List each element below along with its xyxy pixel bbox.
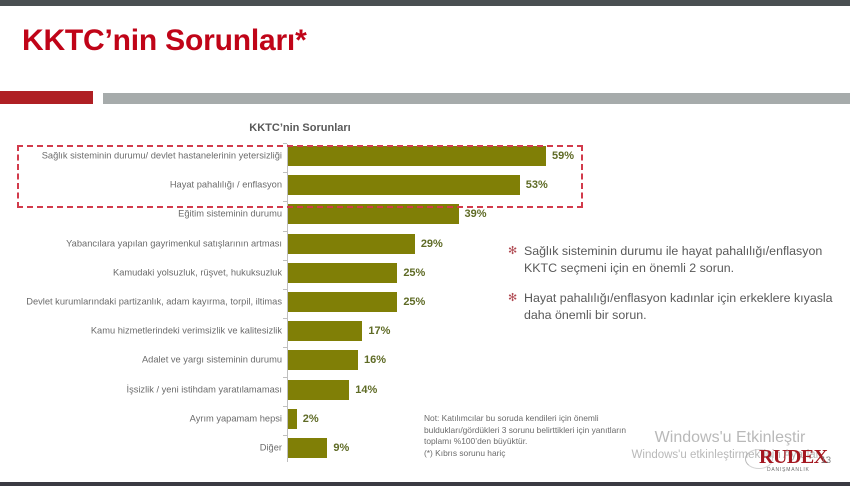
bullet-marker-icon: ✻	[508, 244, 517, 259]
chart-category-label: Adalet ve yargı sisteminin durumu	[142, 355, 282, 366]
chart-bar-value: 39%	[465, 208, 487, 220]
slide-canvas: KKTC’nin Sorunları* KKTC’nin Sorunları S…	[0, 0, 850, 486]
chart-bar	[288, 350, 358, 370]
axis-tick	[283, 347, 287, 348]
bullet-list: ✻Sağlık sisteminin durumu ile hayat paha…	[508, 243, 840, 337]
chart-bar	[288, 234, 415, 254]
axis-tick	[283, 289, 287, 290]
accent-bar-gray	[103, 93, 850, 104]
axis-tick	[283, 435, 287, 436]
chart-bar	[288, 175, 520, 195]
axis-tick	[283, 260, 287, 261]
axis-tick	[283, 201, 287, 202]
chart-category-label: Kamudaki yolsuzluk, rüşvet, hukuksuzluk	[113, 267, 282, 278]
axis-tick	[283, 406, 287, 407]
chart-title: KKTC’nin Sorunları	[190, 122, 410, 134]
axis-tick	[283, 231, 287, 232]
chart-category-label: Kamu hizmetlerindeki verimsizlik ve kali…	[91, 326, 282, 337]
page-title: KKTC’nin Sorunları*	[22, 24, 307, 58]
axis-tick	[283, 143, 287, 144]
axis-tick	[283, 377, 287, 378]
chart-bar-value: 25%	[403, 296, 425, 308]
chart-bar-value: 25%	[403, 267, 425, 279]
window-bottom-strip	[0, 482, 850, 486]
chart-bar	[288, 438, 327, 458]
footnote-line-1: Not: Katılımcılar bu soruda kendileri iç…	[424, 413, 674, 425]
footnote-line-3: toplamı %100’den büyüktür.	[424, 436, 674, 448]
footnote-line-2: buldukları/gördükleri 3 sorunu belirttik…	[424, 425, 674, 437]
chart-bar-value: 59%	[552, 150, 574, 162]
bullet-item: ✻Hayat pahalılığı/enflasyon kadınlar içi…	[508, 290, 840, 324]
chart-category-label: Eğitim sisteminin durumu	[178, 209, 282, 220]
chart-category-label: İşsizlik / yeni istihdam yaratılamaması	[126, 384, 282, 395]
chart-category-label: Hayat pahalılığı / enflasyon	[170, 180, 282, 191]
bullet-marker-icon: ✻	[508, 291, 517, 306]
chart-bar-value: 53%	[526, 179, 548, 191]
axis-tick	[283, 172, 287, 173]
chart-bar	[288, 146, 546, 166]
bullet-item: ✻Sağlık sisteminin durumu ile hayat paha…	[508, 243, 840, 277]
window-top-strip	[0, 0, 850, 6]
chart-bar	[288, 380, 349, 400]
chart-category-label: Diğer	[260, 443, 282, 454]
footnote: Not: Katılımcılar bu soruda kendileri iç…	[424, 413, 674, 459]
bullet-text: Sağlık sisteminin durumu ile hayat pahal…	[524, 244, 822, 275]
chart-row: Hayat pahalılığı / enflasyon53%	[0, 172, 600, 198]
chart-bar	[288, 321, 362, 341]
chart-row: Adalet ve yargı sisteminin durumu16%	[0, 347, 600, 373]
chart-bar-value: 14%	[355, 384, 377, 396]
page-number: 13	[821, 455, 831, 465]
chart-category-label: Devlet kurumlarındaki partizanlık, adam …	[26, 297, 282, 308]
chart-bar-value: 9%	[333, 442, 349, 454]
logo-wordmark: RUDEX	[759, 446, 828, 469]
chart-row: İşsizlik / yeni istihdam yaratılamaması1…	[0, 377, 600, 403]
chart-bar-value: 17%	[368, 325, 390, 337]
logo-subtitle: DANIŞMANLIK	[767, 467, 810, 473]
chart-category-label: Yabancılara yapılan gayrimenkul satışlar…	[66, 238, 282, 249]
chart-bar-value: 16%	[364, 354, 386, 366]
chart-bar-value: 29%	[421, 238, 443, 250]
chart-bar	[288, 409, 297, 429]
chart-category-label: Sağlık sisteminin durumu/ devlet hastane…	[42, 151, 282, 162]
chart-bar-value: 2%	[303, 413, 319, 425]
chart-category-label: Ayrım yapamam hepsi	[190, 413, 282, 424]
chart-row: Sağlık sisteminin durumu/ devlet hastane…	[0, 143, 600, 169]
chart-bar	[288, 292, 397, 312]
bullet-text: Hayat pahalılığı/enflasyon kadınlar için…	[524, 291, 833, 322]
chart-bar	[288, 204, 459, 224]
footnote-line-4: (*) Kıbrıs sorunu hariç	[424, 448, 674, 460]
chart-bar	[288, 263, 397, 283]
accent-bar-red	[0, 91, 93, 104]
axis-tick	[283, 318, 287, 319]
chart-row: Eğitim sisteminin durumu39%	[0, 201, 600, 227]
